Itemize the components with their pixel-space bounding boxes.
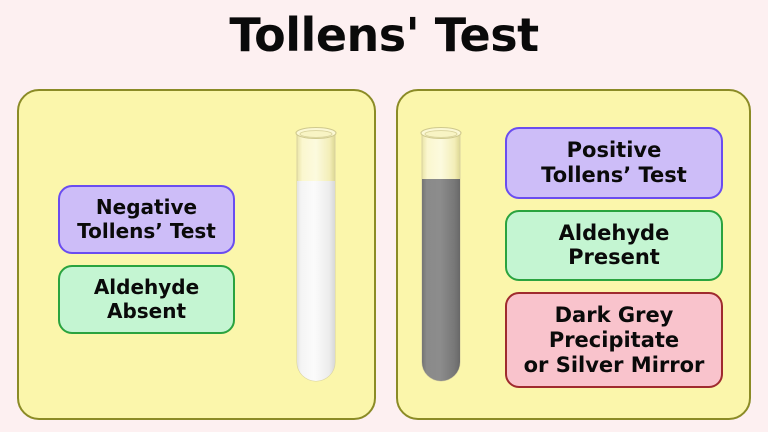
callout-line: Dark Grey [555, 303, 674, 328]
callout-line: Negative [96, 196, 197, 220]
callout-negative-tollens-test: Negative Tollens’ Test [58, 185, 235, 254]
callout-line: Present [568, 245, 660, 270]
callout-line: Positive [567, 138, 662, 163]
callout-line: Tollens’ Test [541, 163, 687, 188]
callout-aldehyde-absent: Aldehyde Absent [58, 265, 235, 334]
negative-label-stack: Negative Tollens’ Test Aldehyde Absent [58, 185, 235, 334]
test-tube-negative [295, 124, 337, 384]
callout-positive-tollens-test: Positive Tollens’ Test [505, 127, 723, 199]
test-tube-positive [420, 124, 462, 384]
callout-line: Aldehyde [559, 221, 670, 246]
callout-line: Aldehyde [94, 276, 199, 300]
page-title: Tollens' Test [0, 8, 768, 62]
callout-aldehyde-present: Aldehyde Present [505, 210, 723, 282]
callout-line: or Silver Mirror [524, 353, 705, 378]
callout-line: Absent [107, 300, 186, 324]
positive-label-stack: Positive Tollens’ Test Aldehyde Present … [505, 127, 723, 388]
callout-dark-grey-precipitate: Dark Grey Precipitate or Silver Mirror [505, 292, 723, 388]
callout-line: Tollens’ Test [77, 220, 216, 244]
callout-line: Precipitate [549, 328, 679, 353]
